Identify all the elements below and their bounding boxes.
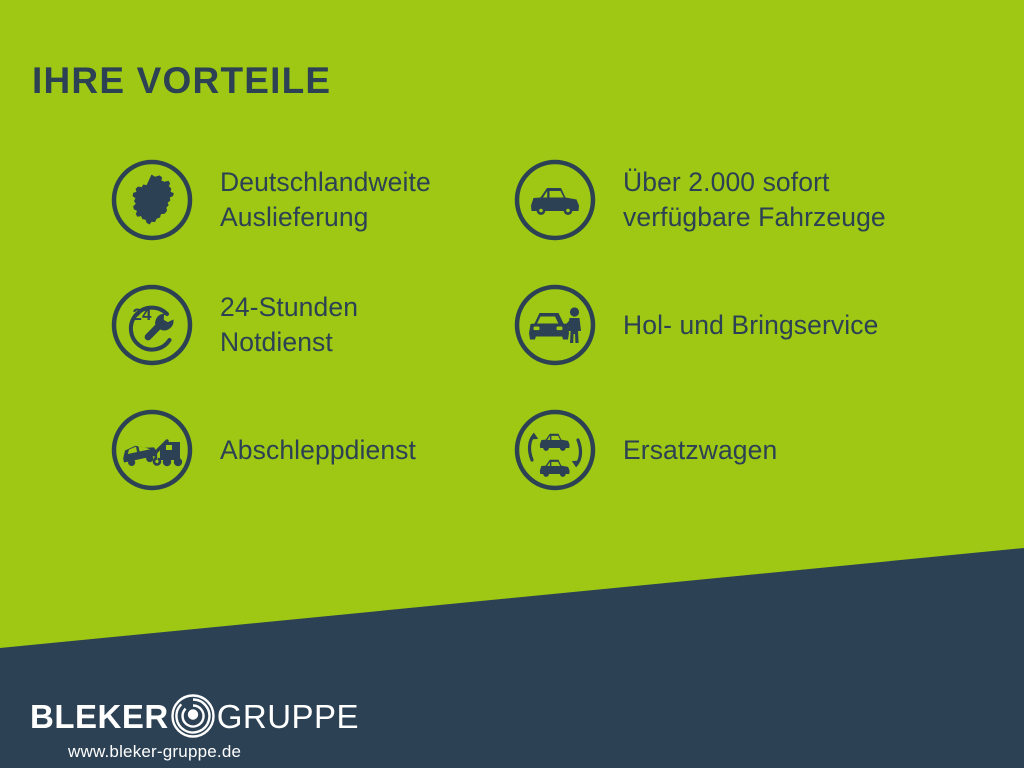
benefit-item-abschleppdienst: Abschleppdienst xyxy=(110,402,510,527)
logo-secondary-text: GRUPPE xyxy=(217,700,359,733)
benefit-label-line: 24-Stunden xyxy=(220,290,550,325)
tow-truck-icon xyxy=(110,408,194,492)
benefit-label-line: Hol- und Bringservice xyxy=(623,308,973,343)
benefit-item-hol-und-bringservice: Hol- und Bringservice xyxy=(513,277,973,402)
benefit-label: Ersatzwagen xyxy=(623,402,973,498)
benefit-label: Hol- und Bringservice xyxy=(623,277,973,373)
benefits-column-left: Deutschlandweite Auslieferung 24 xyxy=(110,152,510,527)
benefit-label-line: Über 2.000 sofort xyxy=(623,165,973,200)
benefit-item-24-stunden-notdienst: 24 24-Stunden Notdienst xyxy=(110,277,510,402)
benefit-label-line: Deutschlandweite xyxy=(220,165,550,200)
benefit-label-line: Ersatzwagen xyxy=(623,433,973,468)
benefit-label-line: Notdienst xyxy=(220,325,550,360)
footer-url[interactable]: www.bleker-gruppe.de xyxy=(68,742,241,762)
two-cars-exchange-icon xyxy=(513,408,597,492)
benefit-item-ersatzwagen: Ersatzwagen xyxy=(513,402,973,527)
germany-map-icon xyxy=(110,158,194,242)
car-person-service-icon xyxy=(513,283,597,367)
logo-primary-text: BLEKER xyxy=(30,700,169,733)
page-title: IHRE VORTEILE xyxy=(32,62,331,99)
benefit-item-deutschlandweite-auslieferung: Deutschlandweite Auslieferung xyxy=(110,152,510,277)
benefit-label-line: verfügbare Fahrzeuge xyxy=(623,200,973,235)
slide-root: IHRE VORTEILE Deutschlandweite Ausliefer… xyxy=(0,0,1024,768)
icon-text-24: 24 xyxy=(133,305,152,324)
benefit-label-line: Auslieferung xyxy=(220,200,550,235)
benefit-label: Über 2.000 sofort verfügbare Fahrzeuge xyxy=(623,152,973,248)
benefit-label: Abschleppdienst xyxy=(220,402,550,498)
benefits-column-right: Über 2.000 sofort verfügbare Fahrzeuge xyxy=(513,152,973,527)
spiral-logo-icon xyxy=(170,693,216,739)
benefit-item-sofort-verfuegbare-fahrzeuge: Über 2.000 sofort verfügbare Fahrzeuge xyxy=(513,152,973,277)
benefit-label: 24-Stunden Notdienst xyxy=(220,277,550,373)
clock-wrench-24h-icon: 24 xyxy=(110,283,194,367)
benefit-label-line: Abschleppdienst xyxy=(220,433,550,468)
footer-logo: BLEKER GRUPPE xyxy=(30,694,359,738)
benefit-label: Deutschlandweite Auslieferung xyxy=(220,152,550,248)
car-side-icon xyxy=(513,158,597,242)
